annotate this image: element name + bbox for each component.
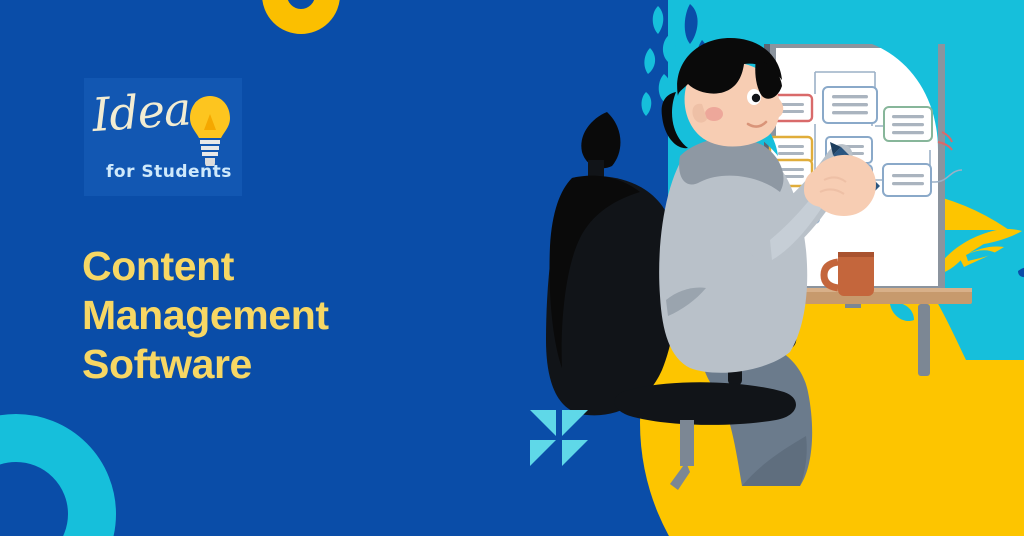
page-title: Content Management Software: [82, 242, 502, 389]
ideas-for-students-logo[interactable]: Ideas for Students: [84, 78, 242, 196]
headline-line-3: Software: [82, 340, 502, 389]
person-head: [662, 38, 784, 148]
headline-line-1: Content: [82, 242, 502, 291]
four-triangle-brandmark: [528, 408, 590, 468]
headline-line-2: Management: [82, 291, 502, 340]
promo-banner: Ideas for Students Content Management So…: [0, 0, 1024, 536]
logo-wordmark-secondary: for Students: [106, 162, 232, 182]
lightbulb-icon: [188, 94, 232, 166]
